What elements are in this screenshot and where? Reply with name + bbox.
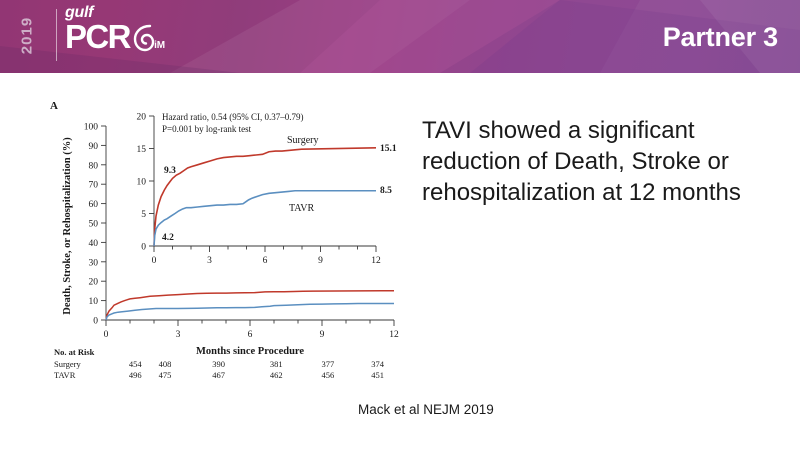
risk-cell: 381 [225, 359, 283, 370]
early-label-tavr: 4.2 [162, 233, 174, 243]
risk-row-label: TAVR [54, 370, 108, 381]
risk-cell: 377 [283, 359, 335, 370]
risk-row-label: Surgery [54, 359, 108, 370]
risk-table-title: No. at Risk [54, 347, 394, 357]
numbers-at-risk-table: No. at Risk Surgery 454 408 390 381 377 … [54, 347, 394, 381]
svg-text:0: 0 [93, 317, 98, 327]
logo-pcr-text: PCR [65, 22, 130, 52]
slide-body-text: TAVI showed a significant reduction of D… [422, 115, 788, 209]
svg-text:12: 12 [371, 256, 381, 266]
svg-text:6: 6 [263, 256, 268, 266]
risk-cell: 475 [142, 370, 172, 381]
svg-text:0: 0 [104, 330, 109, 340]
hazard-ratio-annotation: Hazard ratio, 0.54 (95% CI, 0.37–0.79) [162, 112, 303, 122]
svg-text:100: 100 [84, 123, 99, 133]
svg-text:5: 5 [141, 210, 146, 220]
risk-cell: 408 [142, 359, 172, 370]
series-label-tavr: TAVR [289, 203, 314, 214]
risk-cell: 454 [108, 359, 142, 370]
logo-divider [56, 9, 57, 61]
svg-text:0: 0 [152, 256, 157, 266]
logo-swirl-icon: iM [131, 22, 157, 52]
svg-text:70: 70 [89, 181, 99, 191]
risk-cell: 496 [108, 370, 142, 381]
svg-text:30: 30 [89, 258, 99, 268]
table-row: Surgery 454 408 390 381 377 374 [54, 359, 384, 370]
risk-cell: 462 [225, 370, 283, 381]
svg-text:60: 60 [89, 200, 99, 210]
risk-cell: 374 [334, 359, 384, 370]
main-y-ticks [101, 126, 106, 320]
inset-curve-tavr [154, 191, 376, 246]
citation-text: Mack et al NEJM 2019 [358, 402, 494, 417]
svg-text:80: 80 [89, 161, 99, 171]
svg-text:6: 6 [248, 330, 253, 340]
endpoint-label-tavr: 8.5 [380, 186, 392, 196]
svg-text:15: 15 [137, 145, 147, 155]
risk-cell: 467 [171, 370, 225, 381]
table-row: TAVR 496 475 467 462 456 451 [54, 370, 384, 381]
main-y-tick-labels: 100 90 80 70 60 50 40 30 20 10 0 [84, 123, 99, 327]
logo-im-text: iM [154, 41, 165, 51]
svg-text:50: 50 [89, 220, 99, 230]
svg-text:3: 3 [207, 256, 212, 266]
logo-wordmark: gulf PCR iM [65, 5, 157, 52]
endpoint-label-surgery: 15.1 [380, 144, 397, 154]
main-x-ticks [106, 320, 394, 326]
svg-text:3: 3 [176, 330, 181, 340]
svg-text:9: 9 [320, 330, 325, 340]
inset-y-ticks [149, 116, 154, 246]
slide: 2019 gulf PCR iM Partner 3 A [0, 0, 800, 450]
svg-text:20: 20 [137, 113, 147, 123]
inset-curve-surgery [154, 148, 376, 246]
svg-text:10: 10 [89, 297, 99, 307]
svg-text:12: 12 [389, 330, 399, 340]
svg-text:10: 10 [137, 178, 147, 188]
logo-year: 2019 [19, 9, 36, 63]
inset-x-tick-labels: 0 3 6 9 12 [152, 256, 381, 266]
main-x-tick-labels: 0 3 6 9 12 [104, 330, 399, 340]
early-label-surgery: 9.3 [164, 166, 176, 176]
inset-axes [154, 116, 376, 246]
event-logo: 2019 gulf PCR iM [14, 5, 157, 69]
y-axis-label: Death, Stroke, or Rehospitalization (%) [62, 137, 73, 315]
svg-text:20: 20 [89, 278, 99, 288]
svg-text:40: 40 [89, 239, 99, 249]
page-title: Partner 3 [663, 22, 778, 53]
main-curve-surgery [106, 291, 394, 320]
inset-x-ticks [154, 246, 376, 252]
svg-text:0: 0 [141, 243, 146, 253]
risk-cell: 451 [334, 370, 384, 381]
main-curve-tavr [106, 304, 394, 321]
svg-text:9: 9 [318, 256, 323, 266]
svg-text:90: 90 [89, 142, 99, 152]
slide-header: 2019 gulf PCR iM Partner 3 [0, 0, 800, 73]
inset-y-tick-labels: 20 15 10 5 0 [137, 113, 147, 253]
series-label-surgery: Surgery [287, 135, 318, 146]
risk-cell: 390 [171, 359, 225, 370]
risk-cell: 456 [283, 370, 335, 381]
pvalue-annotation: P=0.001 by log-rank test [162, 124, 252, 134]
